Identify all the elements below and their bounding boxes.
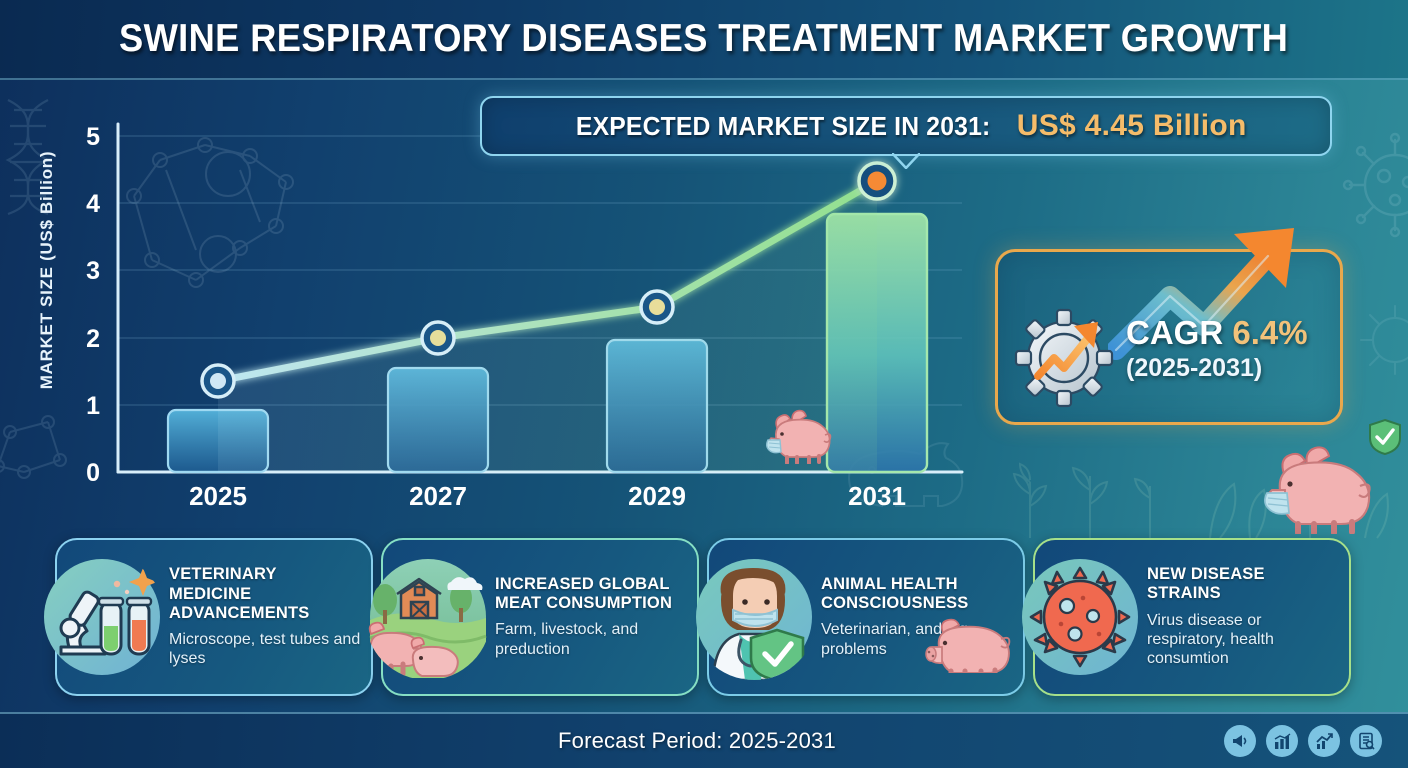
- page-title: SWINE RESPIRATORY DISEASES TREATMENT MAR…: [119, 17, 1288, 61]
- masked-pig-chart-icon: [763, 402, 835, 469]
- y-tick-4: 4: [86, 190, 100, 218]
- footer-bar: Forecast Period: 2025-2031: [0, 712, 1408, 768]
- callout-pointer: [892, 153, 920, 169]
- cagr-value: 6.4%: [1232, 314, 1307, 351]
- x-tick-2025: 2025: [189, 481, 247, 511]
- virus-decoration: [1340, 130, 1408, 240]
- y-tick-5: 5: [86, 123, 100, 151]
- driver-card-veterinary-medicine[interactable]: VETERINARY MEDICINE ADVANCEMENTS Microsc…: [55, 538, 373, 696]
- y-tick-0: 0: [86, 459, 100, 487]
- footer-icon-group: [1224, 725, 1382, 757]
- driver-card-animal-health[interactable]: ANIMAL HEALTH CONSCIOUSNESS Veterinarian…: [707, 538, 1025, 696]
- gear-growth-arrow-icon: [1012, 304, 1120, 415]
- x-tick-2027: 2027: [409, 481, 467, 511]
- microscope-test-tubes-icon: [39, 554, 165, 680]
- card-title: VETERINARY MEDICINE ADVANCEMENTS: [169, 565, 363, 622]
- marker-2025: [202, 365, 234, 397]
- header-bar: SWINE RESPIRATORY DISEASES TREATMENT MAR…: [0, 0, 1408, 80]
- megaphone-icon[interactable]: [1224, 725, 1256, 757]
- marker-2029: [641, 291, 673, 323]
- card-title: NEW DISEASE STRAINS: [1147, 565, 1341, 603]
- cagr-prefix: CAGR: [1126, 314, 1223, 351]
- veterinarian-shield-icon: [691, 554, 817, 680]
- card-title: ANIMAL HEALTH CONSCIOUSNESS: [821, 575, 1015, 613]
- y-tick-2: 2: [86, 325, 100, 353]
- cagr-text-block: CAGR 6.4% (2025-2031): [1126, 314, 1336, 383]
- callout-label: EXPECTED MARKET SIZE IN 2031:: [576, 111, 991, 142]
- pig-illustration: [921, 609, 1013, 678]
- marker-2027: [422, 322, 454, 354]
- infographic-page: SWINE RESPIRATORY DISEASES TREATMENT MAR…: [0, 0, 1408, 768]
- card-subtitle: Microscope, test tubes and lyses: [169, 630, 363, 669]
- driver-card-meat-consumption[interactable]: INCREASED GLOBAL MEAT CONSUMPTION Farm, …: [381, 538, 699, 696]
- virus-decoration-2: [1355, 300, 1408, 380]
- y-tick-3: 3: [86, 257, 100, 285]
- card-subtitle: Farm, livestock, and preduction: [495, 620, 689, 659]
- forecast-period-text: Forecast Period: 2025-2031: [558, 728, 836, 754]
- x-tick-2029: 2029: [628, 481, 686, 511]
- cagr-callout-box: CAGR 6.4% (2025-2031): [995, 249, 1343, 425]
- callout-value: US$ 4.45 Billion: [1017, 109, 1247, 143]
- driver-card-new-disease-strains[interactable]: NEW DISEASE STRAINS Virus disease or res…: [1033, 538, 1351, 696]
- cagr-headline: CAGR 6.4%: [1126, 314, 1336, 352]
- cagr-period: (2025-2031): [1126, 354, 1336, 383]
- marker-2031-highlight: [859, 163, 895, 199]
- bar-chart-icon[interactable]: [1266, 725, 1298, 757]
- x-tick-2031: 2031: [848, 481, 906, 511]
- expected-market-size-callout: EXPECTED MARKET SIZE IN 2031: US$ 4.45 B…: [480, 96, 1332, 156]
- report-document-icon[interactable]: [1350, 725, 1382, 757]
- drivers-card-row: VETERINARY MEDICINE ADVANCEMENTS Microsc…: [55, 538, 1355, 698]
- y-tick-1: 1: [86, 392, 100, 420]
- green-check-shield-icon: [1368, 418, 1402, 461]
- farm-barn-pigs-icon: [365, 554, 491, 680]
- virus-cell-icon: [1017, 554, 1143, 680]
- masked-pig-right-icon: [1258, 438, 1376, 539]
- card-title: INCREASED GLOBAL MEAT CONSUMPTION: [495, 575, 689, 613]
- line-chart-icon[interactable]: [1308, 725, 1340, 757]
- card-subtitle: Virus disease or respiratory, health con…: [1147, 611, 1341, 669]
